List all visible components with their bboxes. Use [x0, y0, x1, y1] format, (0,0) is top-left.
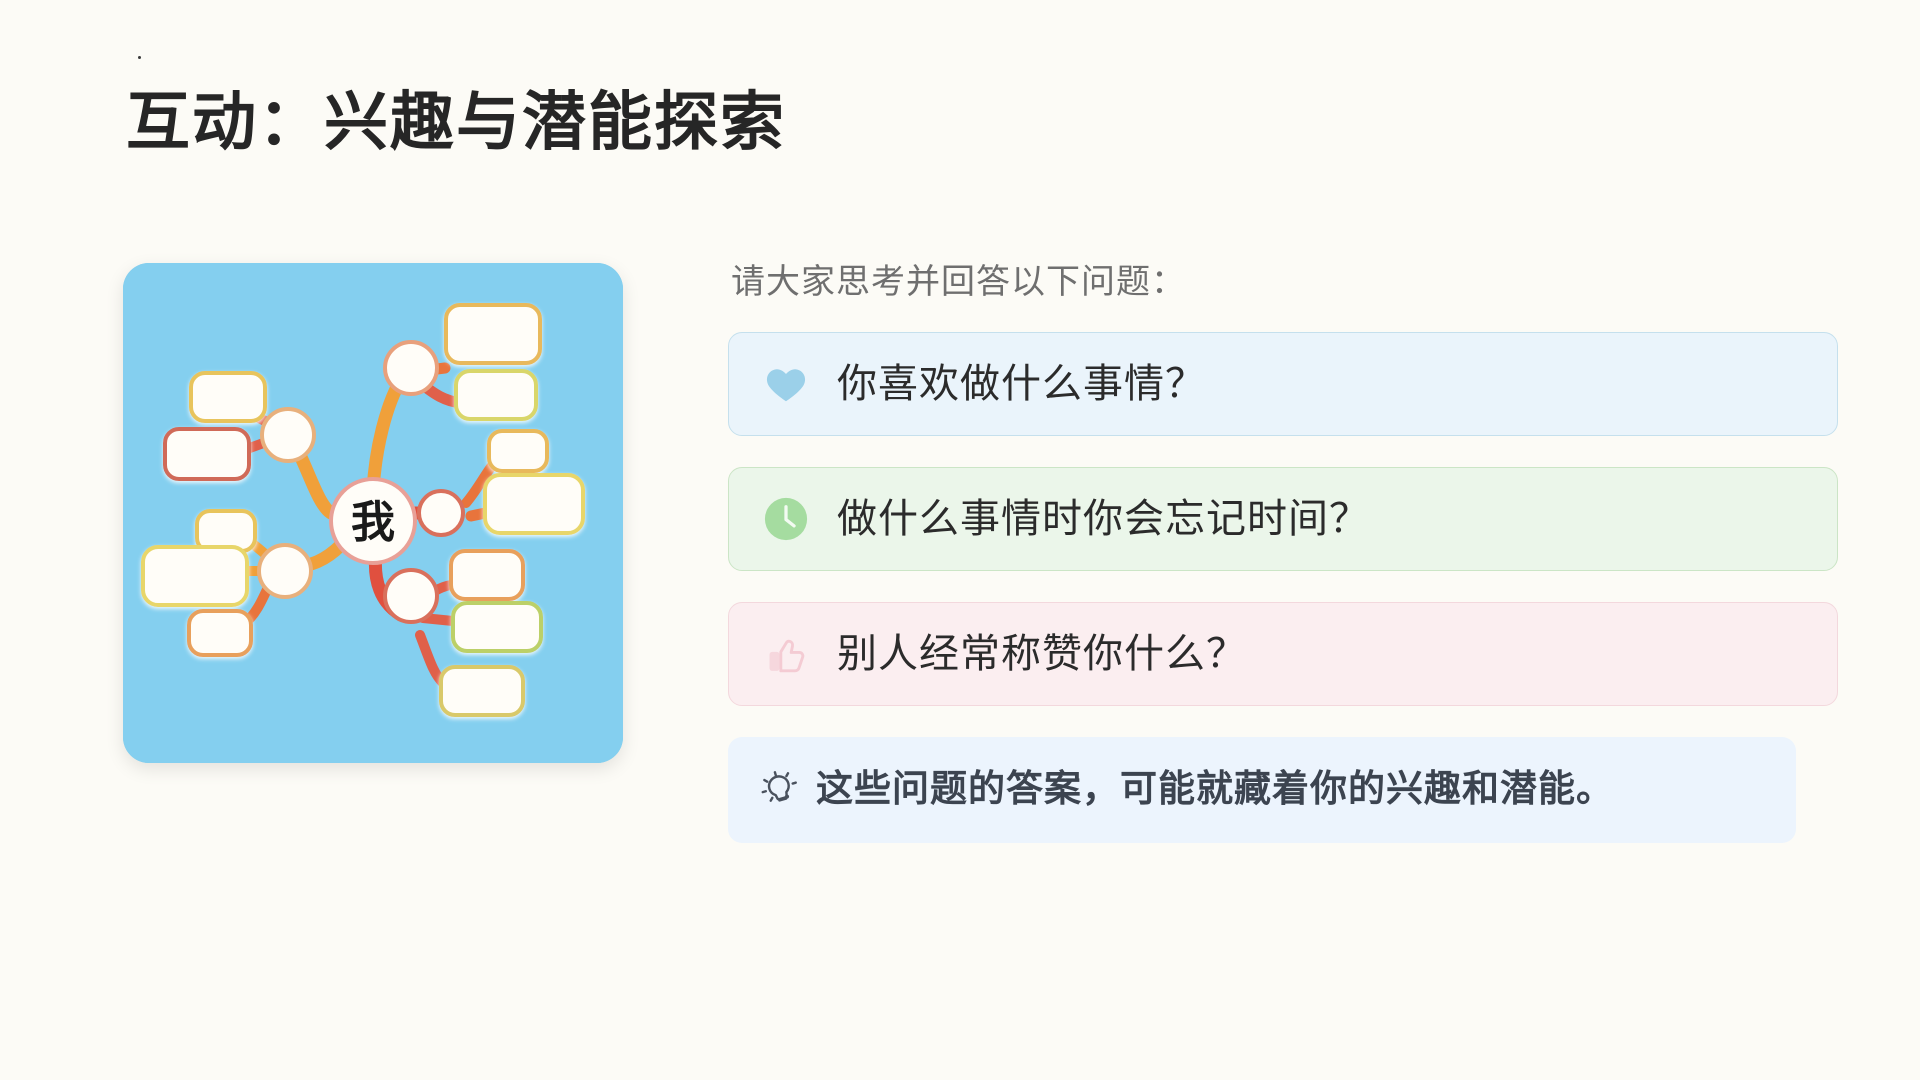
question-card-1[interactable]: 你喜欢做什么事情？ [728, 332, 1838, 436]
mindmap-illustration-card: 我 [123, 263, 623, 763]
insight-callout: 这些问题的答案，可能就藏着你的兴趣和潜能。 [728, 737, 1796, 843]
mindmap-branch-node [385, 570, 437, 622]
page-title: 互动：兴趣与潜能探索 [126, 88, 786, 158]
insight-callout-text: 这些问题的答案，可能就藏着你的兴趣和潜能。 [816, 771, 1614, 808]
mindmap-branch-node [385, 342, 437, 394]
clock-icon [761, 494, 811, 544]
mindmap-branch-node [262, 409, 314, 461]
question-text-3: 别人经常称赞你什么？ [837, 634, 1247, 674]
question-text-1: 你喜欢做什么事情？ [837, 364, 1206, 404]
prompt-label: 请大家思考并回答以下问题： [731, 263, 1838, 304]
lightbulb-icon [758, 768, 802, 812]
mindmap-branch-node [259, 545, 311, 597]
question-panel: 请大家思考并回答以下问题： 你喜欢做什么事情？ 做什么事情时你会忘记时间？ 别人… [728, 263, 1838, 843]
question-card-2[interactable]: 做什么事情时你会忘记时间？ [728, 467, 1838, 571]
question-card-3[interactable]: 别人经常称赞你什么？ [728, 602, 1838, 706]
thumbs-up-icon [761, 629, 811, 679]
heart-icon [761, 359, 811, 409]
mindmap-branch-node [419, 491, 463, 535]
mindmap-svg: 我 [123, 263, 623, 763]
mindmap-center-label: 我 [351, 498, 395, 547]
stray-mark [138, 56, 141, 59]
question-text-2: 做什么事情时你会忘记时间？ [837, 499, 1370, 539]
